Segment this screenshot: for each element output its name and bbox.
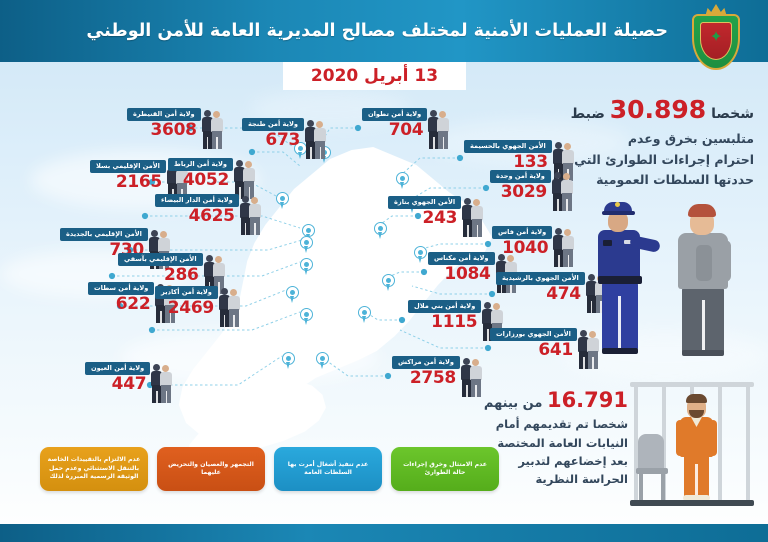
stat-label: ولاية أمن الرباط	[168, 158, 233, 171]
stat-label: الأمن الإقليمي بسلا	[90, 160, 166, 173]
stat-label: الأمن الجهوي بورزازات	[490, 328, 577, 341]
violation-categories: عدم الالتزام بالتقييدات الخاصة بالتنقل ا…	[40, 447, 499, 491]
stat-agadir[interactable]: ولاية أمن أكادير 2469	[155, 286, 242, 328]
map-pin	[300, 236, 313, 254]
map-pin	[300, 258, 313, 276]
category-movement-permit[interactable]: عدم الالتزام بالتقييدات الخاصة بالتنقل ا…	[40, 447, 148, 491]
category-emergency-breach[interactable]: عدم الامتثال وخرق إجراءات حالة الطوارئ	[391, 447, 499, 491]
stat-label: الأمن الإقليمي بآسفي	[118, 253, 203, 266]
prosecuted-line-1: شخصا تم تقديمهم أمام	[443, 416, 628, 433]
stat-value: 1115	[408, 314, 481, 332]
map-pin	[276, 192, 289, 210]
map-pin	[396, 172, 409, 190]
stat-label: الأمن الجهوي بتازة	[388, 196, 461, 209]
stat-taza[interactable]: الأمن الجهوي بتازة 243	[388, 196, 485, 238]
category-non-execution-works[interactable]: عدم تنفيذ أشغال أمرت بها السلطات العامة	[274, 447, 382, 491]
arrest-figure-icon	[150, 362, 176, 404]
arrested-line-1: متلبسين بخرق وعدم	[558, 129, 754, 148]
stat-ouarzazate[interactable]: الأمن الجهوي بورزازات 641	[490, 328, 601, 370]
stat-value: 3608	[127, 122, 201, 140]
stat-value: 3029	[490, 184, 551, 202]
stat-label: ولاية أمن مراكش	[392, 356, 460, 369]
arrest-figure-icon	[218, 286, 244, 328]
stat-label: ولاية أمن وجدة	[490, 170, 551, 183]
arrested-line-3: حددتها السلطات العمومية	[558, 170, 754, 189]
stat-value: 4052	[168, 172, 233, 190]
stat-label: ولاية أمن سطات	[88, 282, 154, 295]
arrest-figure-icon	[427, 108, 453, 150]
stat-value: 2165	[90, 174, 166, 192]
stat-value: 474	[496, 286, 585, 304]
stat-label: ولاية أمن تطوان	[362, 108, 427, 121]
chair-icon	[638, 434, 664, 470]
stat-kenitra[interactable]: ولاية أمن القنيطرة 3608	[127, 108, 225, 150]
stat-label: ولاية أمن القنيطرة	[127, 108, 201, 121]
arrested-suffix: شخصا	[711, 106, 754, 122]
stat-label: الأمن الجهوي بالحسيمة	[464, 140, 552, 153]
footer-bar	[0, 524, 768, 542]
stat-value: 622	[88, 296, 154, 314]
arrest-figure-icon	[552, 226, 578, 268]
arrested-prefix: ضبط	[571, 106, 605, 122]
stat-laayoune[interactable]: ولاية أمن العيون 447	[85, 362, 174, 404]
stat-value: 4625	[155, 208, 239, 226]
stat-value: 641	[490, 342, 577, 360]
stat-errachidia[interactable]: الأمن الجهوي بالرشيدية 474	[496, 272, 609, 314]
map-pin	[382, 274, 395, 292]
stat-value: 704	[362, 122, 427, 140]
stat-value: 673	[242, 132, 304, 150]
arrest-figure-icon	[239, 194, 265, 236]
stat-value: 243	[388, 210, 461, 228]
stat-label: ولاية أمن مكناس	[428, 252, 495, 265]
stat-value: 1084	[428, 266, 495, 284]
stat-value: 2469	[155, 300, 218, 318]
map-pin	[414, 246, 427, 264]
map-pin	[300, 308, 313, 326]
stat-label: ولاية أمن الدار البيضاء	[155, 194, 239, 207]
prosecuted-prefix: من بينهم	[484, 396, 543, 411]
arrest-figure-icon	[461, 196, 487, 238]
stat-label: الأمن الإقليمي بالجديدة	[60, 228, 148, 241]
stat-tangier[interactable]: ولاية أمن طنجة 673	[242, 118, 328, 160]
infographic-root: حصيلة العمليات الأمنية لمختلف مصالح المد…	[0, 0, 768, 542]
arrested-line-2: احترام إجراءات الطوارئ التي	[558, 150, 754, 169]
map-pin	[316, 352, 329, 370]
summary-arrested: شخصا 30.898 ضبط متلبسين بخرق وعدم احترام…	[558, 92, 754, 189]
prosecuted-count: 16.791	[547, 388, 628, 412]
stat-label: ولاية أمن طنجة	[242, 118, 304, 131]
detained-person-illustration	[670, 200, 750, 356]
prosecuted-headline: 16.791 من بينهم	[443, 386, 628, 415]
stat-tetouan[interactable]: ولاية أمن تطوان 704	[362, 108, 451, 150]
arrest-figure-icon	[304, 118, 330, 160]
arrested-headline: شخصا 30.898 ضبط	[558, 92, 754, 128]
arrested-count: 30.898	[610, 95, 706, 124]
category-gathering-disobedience[interactable]: التجمهر والعصيان والتحريض عليهما	[157, 447, 265, 491]
map-pin	[358, 306, 371, 324]
arrest-figure-icon	[201, 108, 227, 150]
stat-label: ولاية أمن فاس	[492, 226, 552, 239]
stat-label: ولاية أمن أكادير	[155, 286, 218, 299]
stat-value: 447	[85, 376, 150, 394]
prison-cell-illustration	[630, 382, 754, 512]
map-pin	[374, 222, 387, 240]
map-pin	[286, 286, 299, 304]
stat-label: ولاية أمن العيون	[85, 362, 150, 375]
stat-label: ولاية أمن بني ملال	[408, 300, 481, 313]
map-pin	[282, 352, 295, 370]
stat-label: الأمن الجهوي بالرشيدية	[496, 272, 585, 285]
